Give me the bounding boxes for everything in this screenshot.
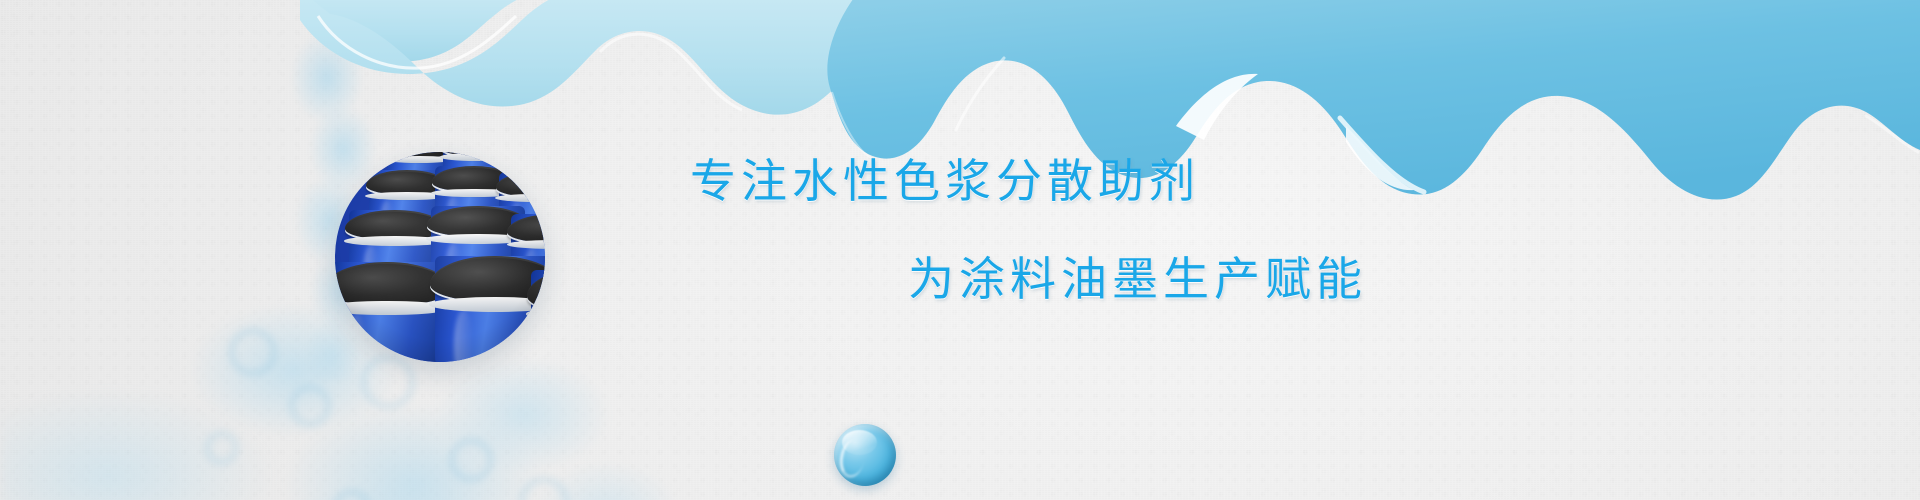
photo-vignette	[335, 152, 545, 362]
promo-banner: 专注水性色浆分散助剂 为涂料油墨生产赋能	[0, 0, 1920, 500]
headline-line-2: 为涂料油墨生产赋能	[908, 256, 1590, 302]
headline-line-1: 专注水性色浆分散助剂	[690, 158, 1590, 204]
headline-block: 专注水性色浆分散助剂 为涂料油墨生产赋能	[690, 158, 1590, 302]
bubble-icon	[834, 424, 896, 486]
product-photo-circle	[335, 152, 545, 362]
